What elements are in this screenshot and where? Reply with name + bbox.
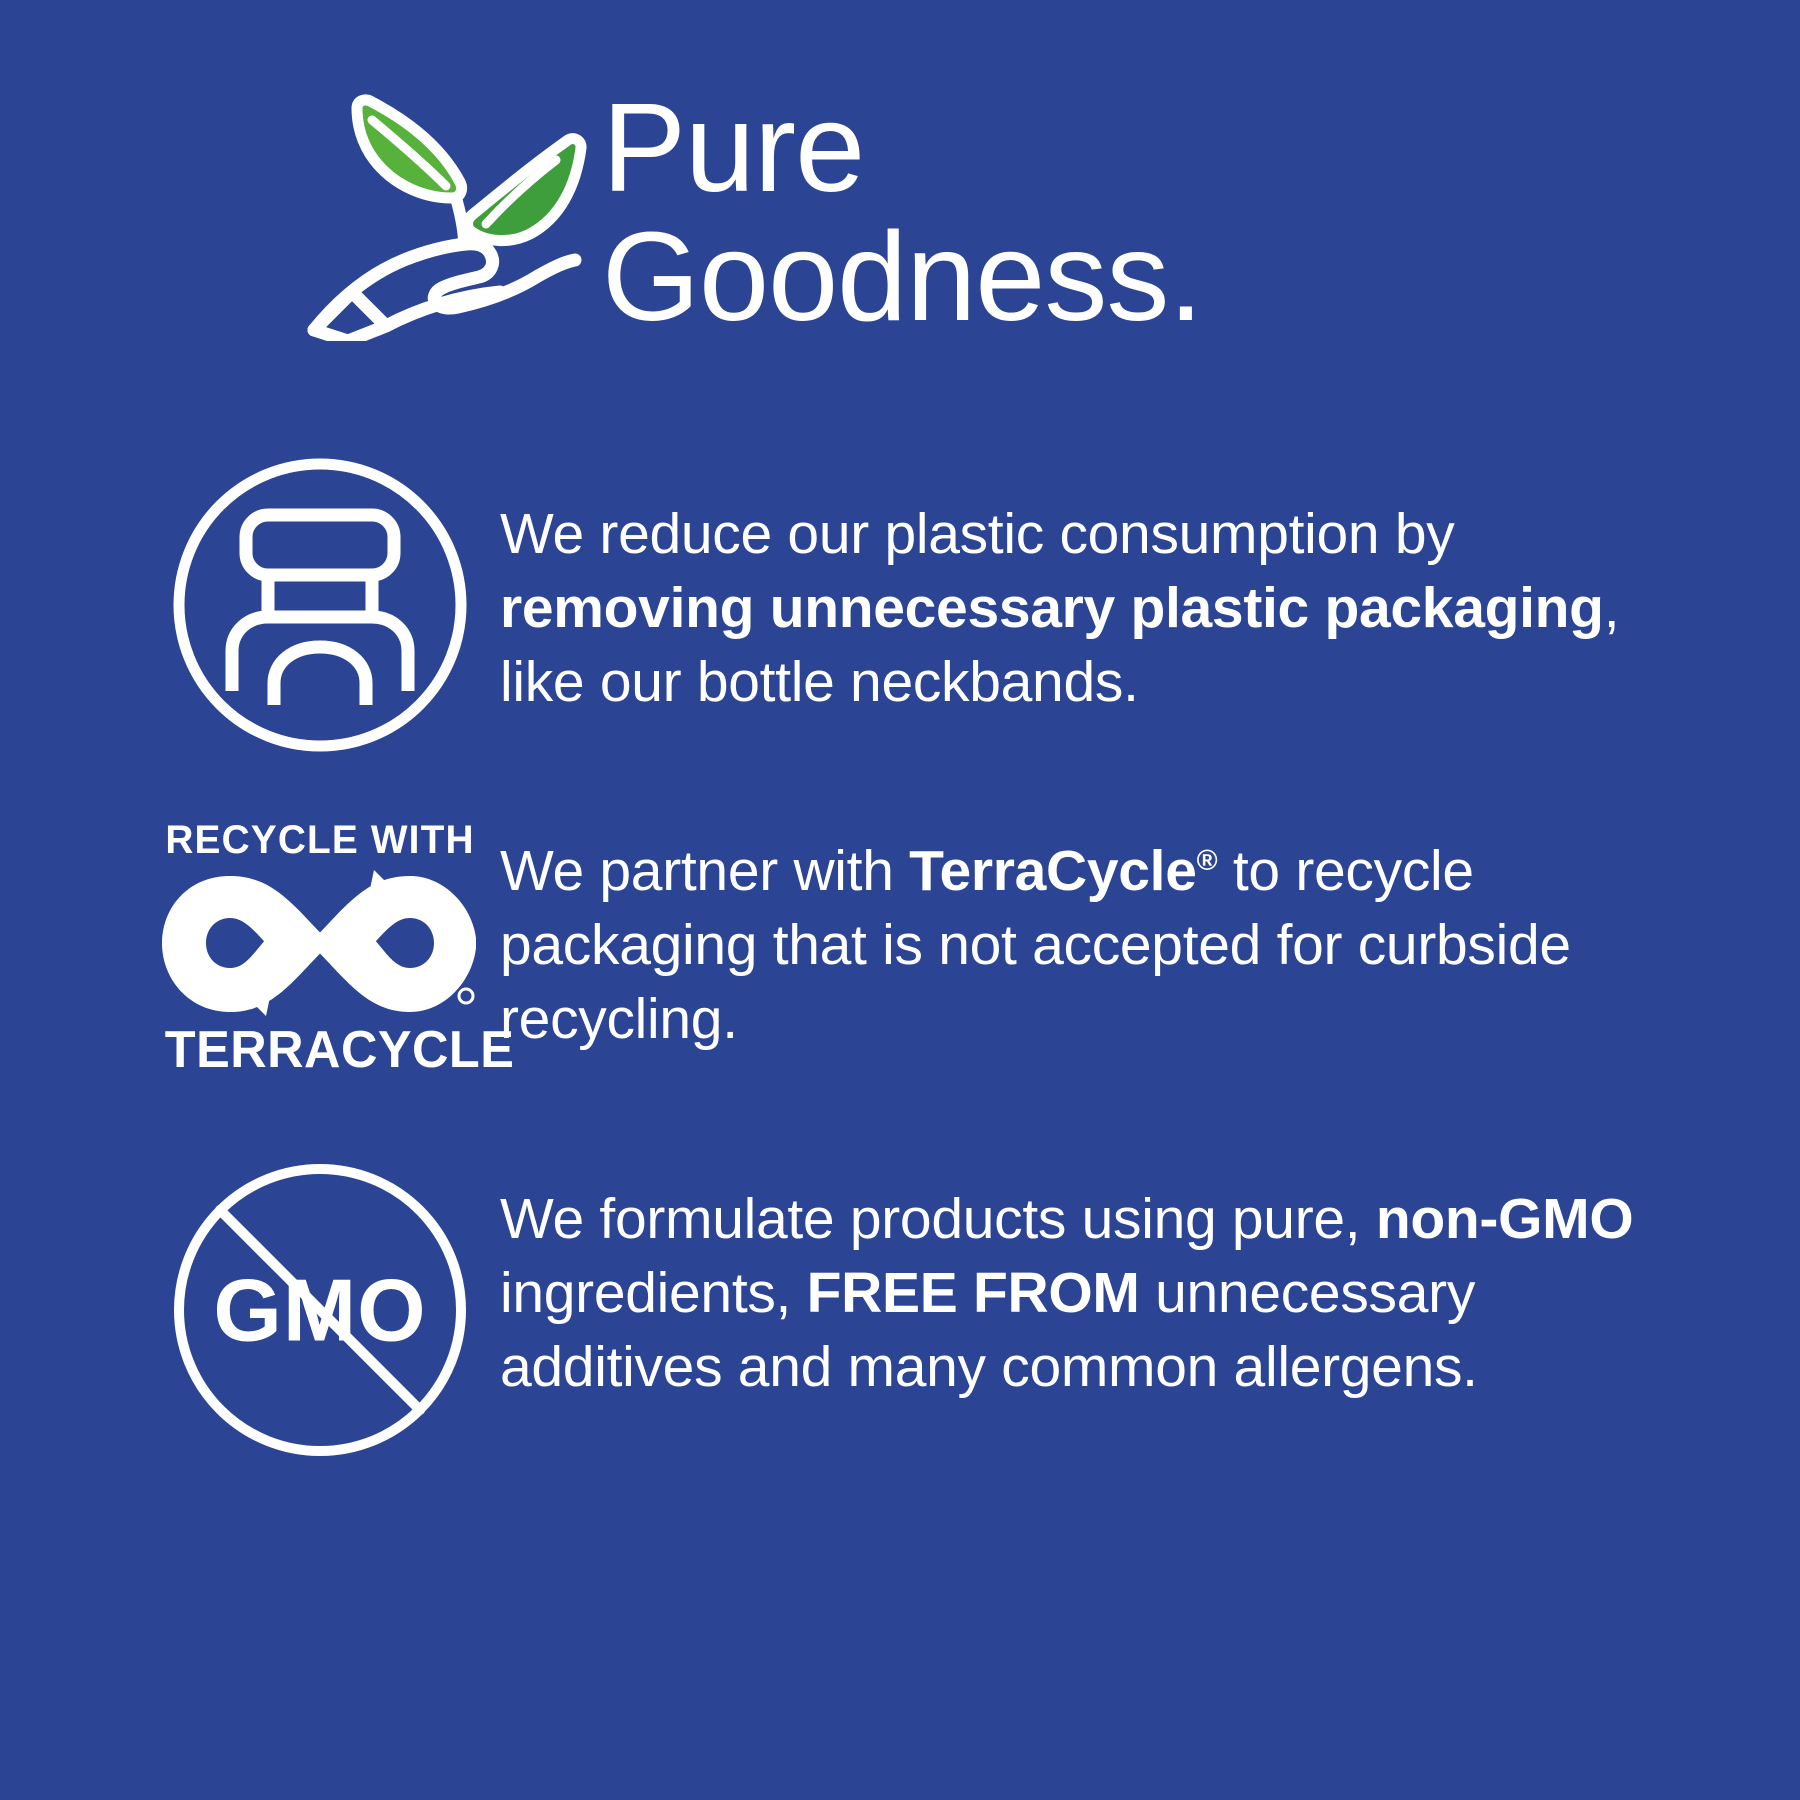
recycle-infinity-icon [160, 868, 480, 1018]
terracycle-bottom-label: TERRACYCLE [165, 1024, 475, 1076]
gmo-label: GMO [213, 1261, 426, 1360]
bottle-in-circle-icon [140, 455, 500, 755]
brand-lockup: Pure Goodness. [300, 80, 1540, 350]
terracycle-top-label: RECYCLE WITH [165, 820, 475, 860]
feature-text-non-gmo: We formulate products using pure, non-GM… [500, 1160, 1680, 1404]
hand-holding-sprout-icon [300, 86, 590, 341]
no-gmo-icon: GMO [140, 1160, 500, 1460]
feature-text-plastic-reduction: We reduce our plastic consumption by rem… [500, 455, 1680, 719]
page-title-line-2: Goodness. [602, 213, 1202, 342]
feature-row-terracycle: RECYCLE WITH [140, 820, 1680, 1076]
page-title-line-1: Pure [602, 84, 1202, 213]
feature-row-non-gmo: GMO We formulate products using pure, no… [140, 1160, 1680, 1460]
registered-trademark-mark: ® [1197, 845, 1218, 877]
infographic-page: Pure Goodness. We reduce our plastic con… [0, 0, 1800, 1800]
page-title: Pure Goodness. [602, 80, 1202, 341]
feature-row-plastic-reduction: We reduce our plastic consumption by rem… [140, 455, 1680, 755]
feature-text-terracycle: We partner with TerraCycle® to recycle p… [500, 820, 1680, 1056]
terracycle-logo-icon: RECYCLE WITH [140, 820, 500, 1076]
